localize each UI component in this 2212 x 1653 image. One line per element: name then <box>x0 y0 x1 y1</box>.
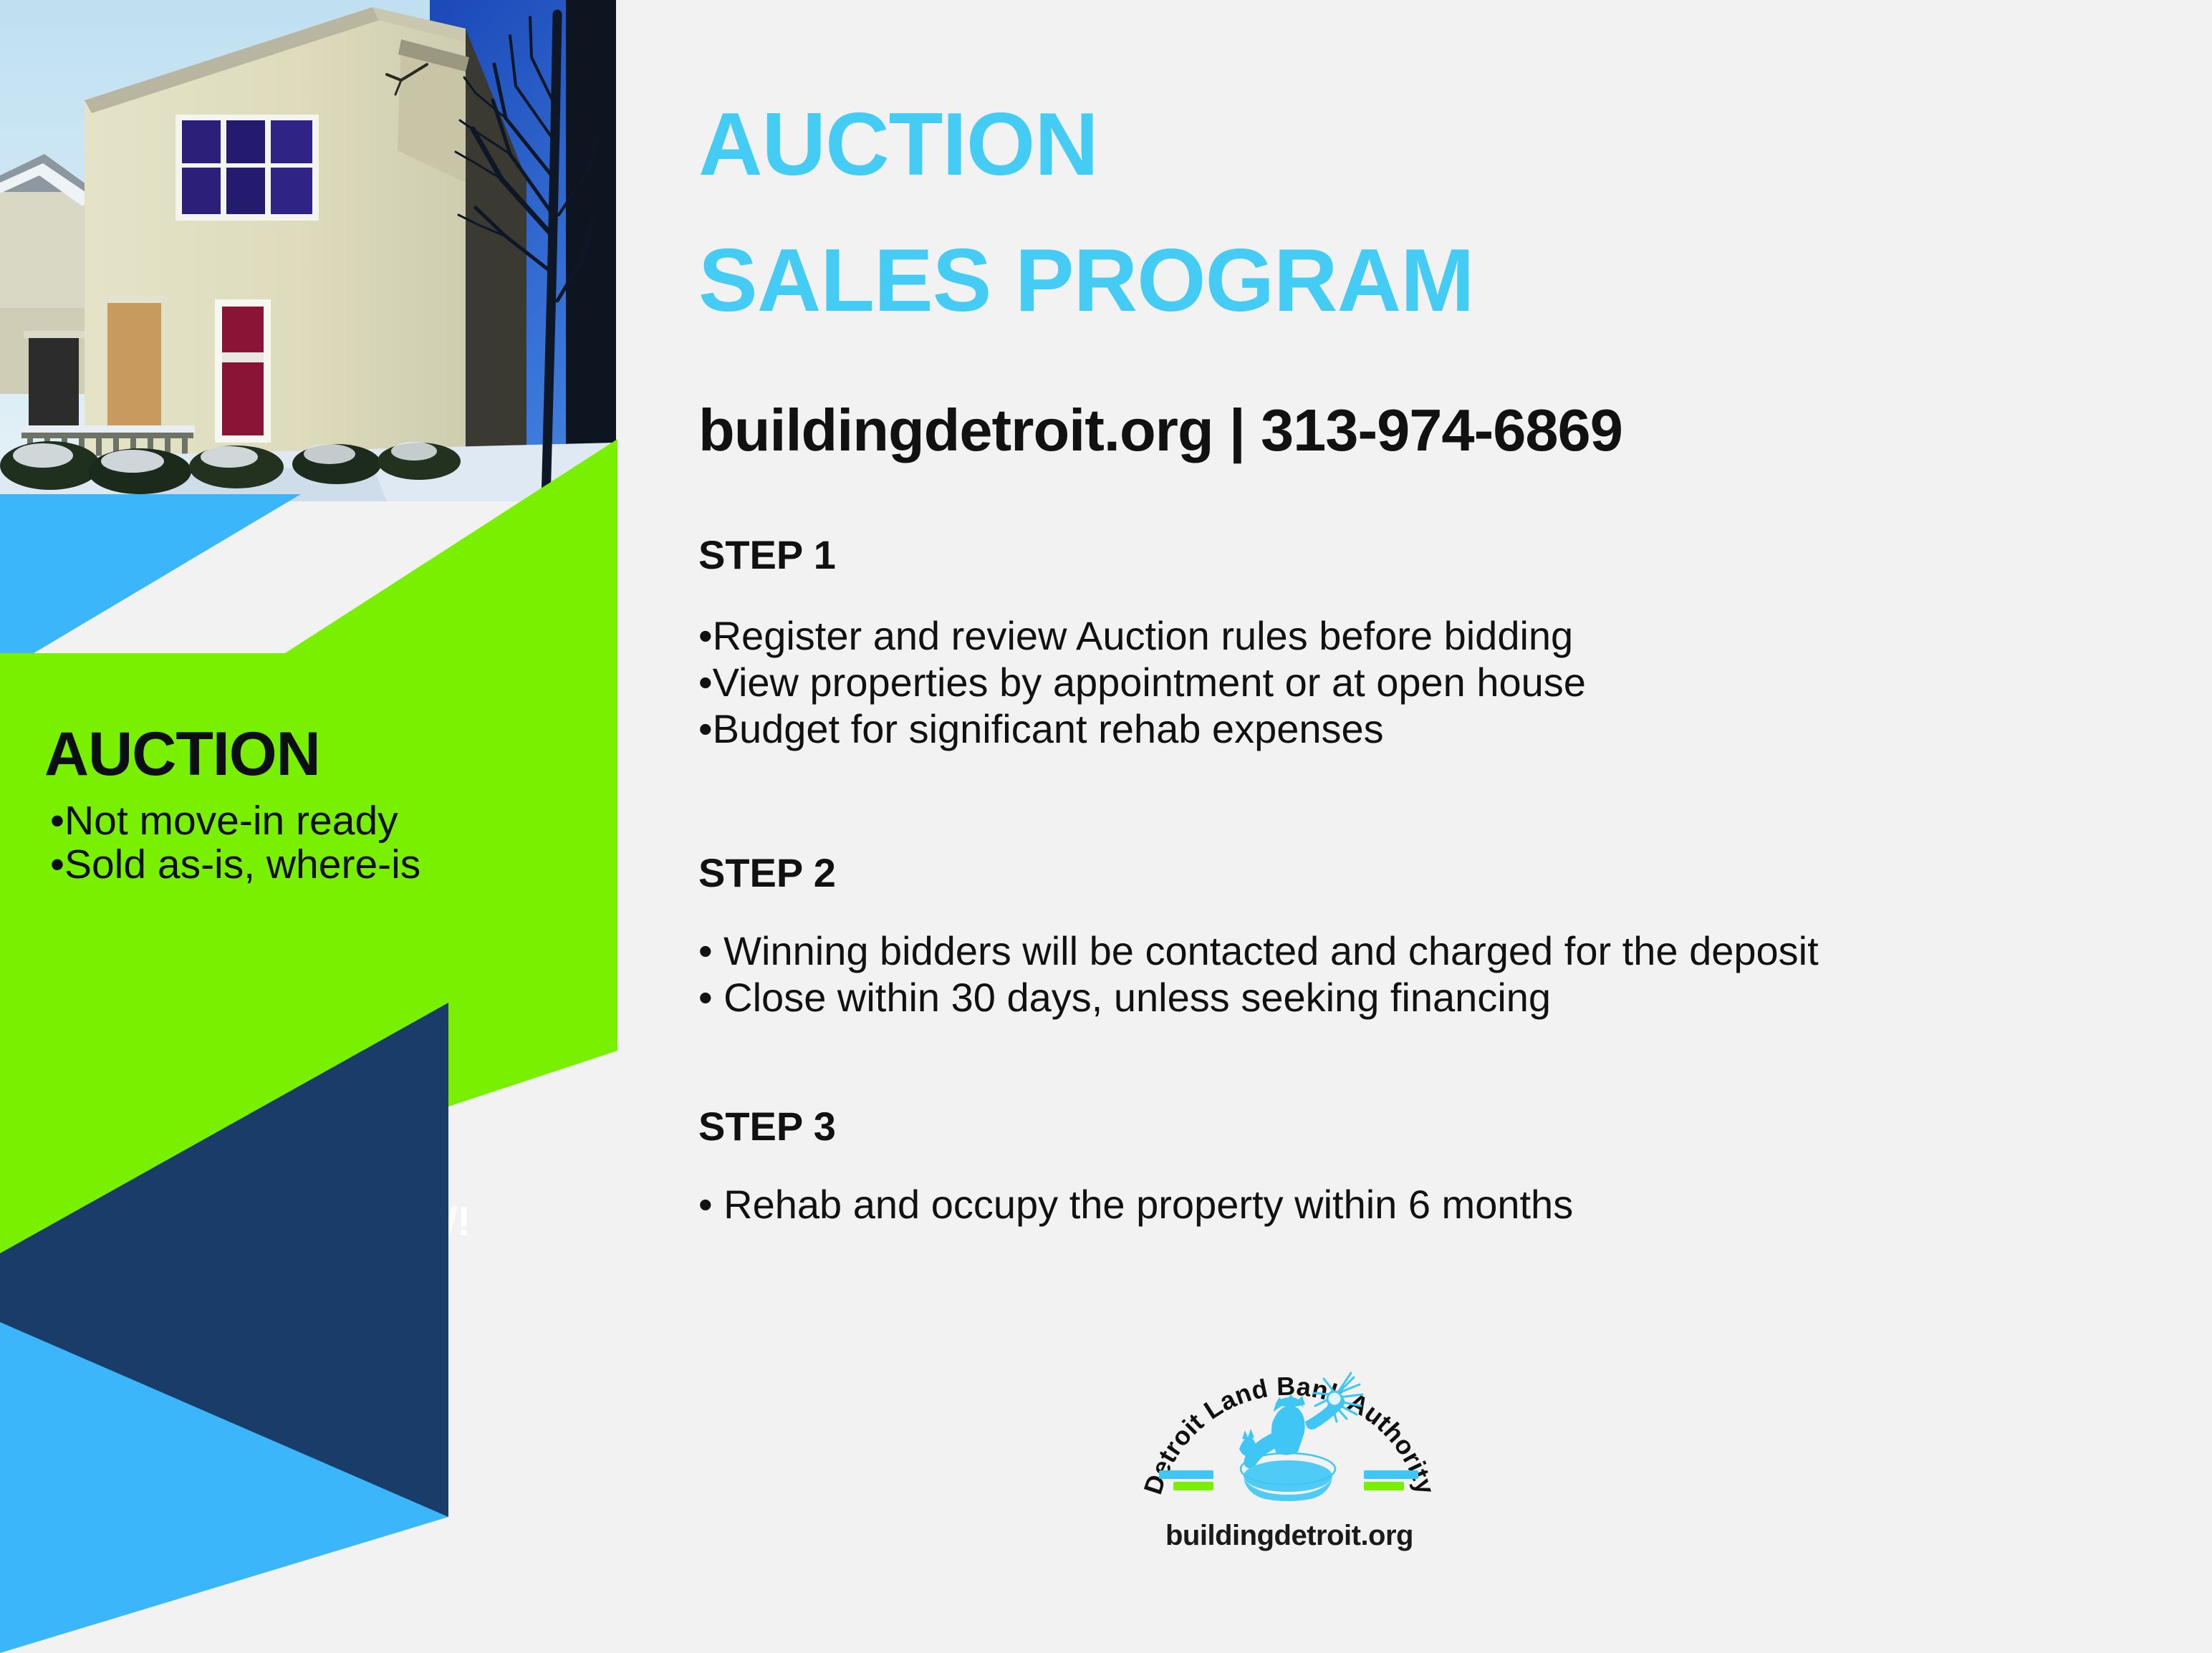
headline-line-1: AUCTION <box>698 100 1098 189</box>
auction-flyer: OW! AUCTION •Not move-in ready •Sold as-… <box>0 0 2212 1653</box>
step-2-bullet: • Close within 30 days, unless seeking f… <box>698 975 1819 1021</box>
dlba-logo-graphic: Detroit Land Bank Authority <box>1132 1343 1447 1522</box>
step-2-heading: STEP 2 <box>698 849 836 896</box>
house-photo-illustration <box>0 0 616 501</box>
step-2-bullet: • Winning bidders will be contacted and … <box>698 928 1819 975</box>
house-photo <box>0 0 616 501</box>
left-graphic-column: OW! AUCTION •Not move-in ready •Sold as-… <box>0 0 630 1653</box>
step-2-bullets: • Winning bidders will be contacted and … <box>698 928 1819 1021</box>
step-3-bullets: • Rehab and occupy the property within 6… <box>698 1182 1573 1228</box>
step-1-bullet: •Budget for significant rehab expenses <box>698 706 1586 753</box>
step-3-heading: STEP 3 <box>698 1103 836 1150</box>
step-1-bullets: •Register and review Auction rules befor… <box>698 613 1586 753</box>
auction-callout-bullet: •Not move-in ready <box>50 799 544 843</box>
step-1-bullet: •View properties by appointment or at op… <box>698 660 1586 706</box>
cyan-accent-wedge <box>0 494 301 673</box>
headline-line-2: SALES PROGRAM <box>698 236 1473 325</box>
step-1-bullet: •Register and review Auction rules befor… <box>698 613 1586 660</box>
contact-line[interactable]: buildingdetroit.org | 313-974-6869 <box>698 396 1622 465</box>
auction-callout-bullet: •Sold as-is, where-is <box>50 843 544 887</box>
step-3-bullet: • Rehab and occupy the property within 6… <box>698 1182 1573 1228</box>
step-1-heading: STEP 1 <box>698 531 836 578</box>
logo-url-text[interactable]: buildingdetroit.org <box>1132 1520 1447 1552</box>
auction-callout: AUCTION •Not move-in ready •Sold as-is, … <box>0 723 544 887</box>
sun-core <box>1327 1392 1342 1406</box>
auction-callout-title: AUCTION <box>44 723 544 785</box>
auction-callout-bullets: •Not move-in ready •Sold as-is, where-is <box>50 799 544 887</box>
